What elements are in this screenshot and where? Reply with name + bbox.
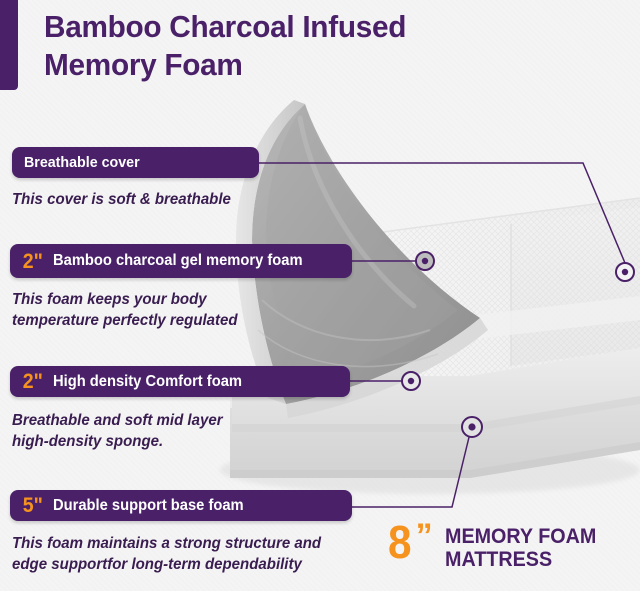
marker-breathable-cover bbox=[616, 263, 634, 281]
badge-word-line-2: MATTRESS bbox=[445, 548, 596, 571]
badge-word-line-1: MEMORY FOAM bbox=[445, 525, 596, 548]
callout-breathable-cover[interactable]: Breathable cover bbox=[12, 147, 259, 178]
badge-inch-mark: ” bbox=[416, 522, 433, 550]
page-title-line-2: Memory Foam bbox=[44, 46, 495, 84]
callout-high-density-comfort[interactable]: 2" High density Comfort foam bbox=[10, 366, 350, 397]
callout-inches-bamboo-charcoal-gel: 2" bbox=[23, 251, 43, 272]
callout-bamboo-charcoal-gel[interactable]: 2" Bamboo charcoal gel memory foam bbox=[10, 244, 352, 278]
callout-durable-support-base[interactable]: 5" Durable support base foam bbox=[10, 490, 352, 521]
infographic-canvas: Bamboo Charcoal Infused Memory Foam Brea… bbox=[0, 0, 640, 591]
mattress-size-badge: 8 ” MEMORY FOAM MATTRESS bbox=[388, 522, 606, 571]
description-breathable-cover: This cover is soft & breathable bbox=[12, 189, 303, 210]
callout-label-durable-support-base: Durable support base foam bbox=[53, 498, 244, 514]
title-accent-bar bbox=[0, 0, 18, 90]
description-durable-support-base: This foam maintains a strong structure a… bbox=[12, 533, 361, 575]
marker-bamboo-charcoal-gel bbox=[416, 252, 434, 270]
callout-label-bamboo-charcoal-gel: Bamboo charcoal gel memory foam bbox=[53, 253, 303, 269]
marker-high-density-comfort bbox=[402, 372, 420, 390]
callout-label-high-density-comfort: High density Comfort foam bbox=[53, 374, 242, 390]
page-title-line-1: Bamboo Charcoal Infused bbox=[44, 8, 495, 46]
description-bamboo-charcoal-gel: This foam keeps your body temperature pe… bbox=[12, 289, 313, 331]
description-high-density-comfort: Breathable and soft mid layer high-densi… bbox=[12, 410, 303, 452]
marker-durable-support-base bbox=[462, 417, 482, 437]
callout-inches-durable-support-base: 5" bbox=[23, 495, 43, 516]
badge-number: 8 bbox=[388, 522, 412, 562]
callout-label-breathable-cover: Breathable cover bbox=[24, 155, 140, 171]
callout-inches-high-density-comfort: 2" bbox=[23, 371, 43, 392]
badge-words: MEMORY FOAM MATTRESS bbox=[445, 522, 596, 571]
page-title: Bamboo Charcoal Infused Memory Foam bbox=[44, 8, 495, 84]
